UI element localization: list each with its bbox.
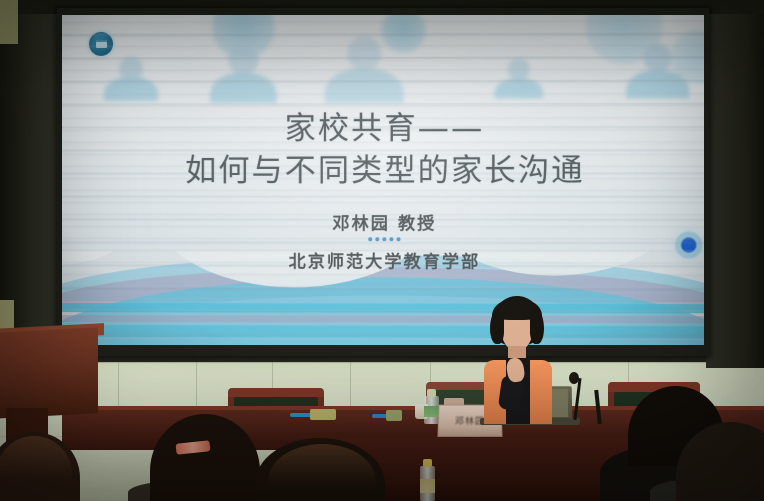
- slide-dot-separator: [62, 237, 704, 242]
- slide-speaker-name: 邓林园 教授: [62, 209, 704, 234]
- presentation-slide: 家校共育—— 如何与不同类型的家长沟通 邓林园 教授 北京师范大学教育学部: [62, 15, 704, 345]
- projection-screen-frame: 家校共育—— 如何与不同类型的家长沟通 邓林园 教授 北京师范大学教育学部: [57, 8, 709, 356]
- slide-title-line-2: 如何与不同类型的家长沟通: [62, 149, 704, 193]
- presenter-hair-side: [530, 310, 544, 344]
- slide-text-block: 家校共育—— 如何与不同类型的家长沟通 邓林园 教授 北京师范大学教育学部: [62, 15, 704, 345]
- water-bottle: [424, 396, 439, 424]
- desk-object: [386, 410, 402, 421]
- slide-affiliation: 北京师范大学教育学部: [62, 247, 704, 273]
- room-right-dark-panel: [706, 0, 764, 368]
- presenter: [470, 296, 566, 424]
- presenter-vest: [530, 360, 552, 424]
- wall-tile-seam: [0, 362, 764, 363]
- desk-object: [310, 409, 336, 420]
- slide-title-line-1: 家校共育——: [62, 106, 704, 151]
- projection-screen: 家校共育—— 如何与不同类型的家长沟通 邓林园 教授 北京师范大学教育学部: [62, 15, 704, 345]
- microphone-head: [569, 372, 579, 384]
- presenter-hair-side: [490, 310, 504, 344]
- marker-pen: [290, 413, 312, 417]
- lectern: [0, 327, 98, 418]
- water-bottle: [420, 466, 435, 501]
- wall-corner-highlight: [0, 0, 18, 44]
- screenshot-root: 家校共育—— 如何与不同类型的家长沟通 邓林园 教授 北京师范大学教育学部: [0, 0, 764, 501]
